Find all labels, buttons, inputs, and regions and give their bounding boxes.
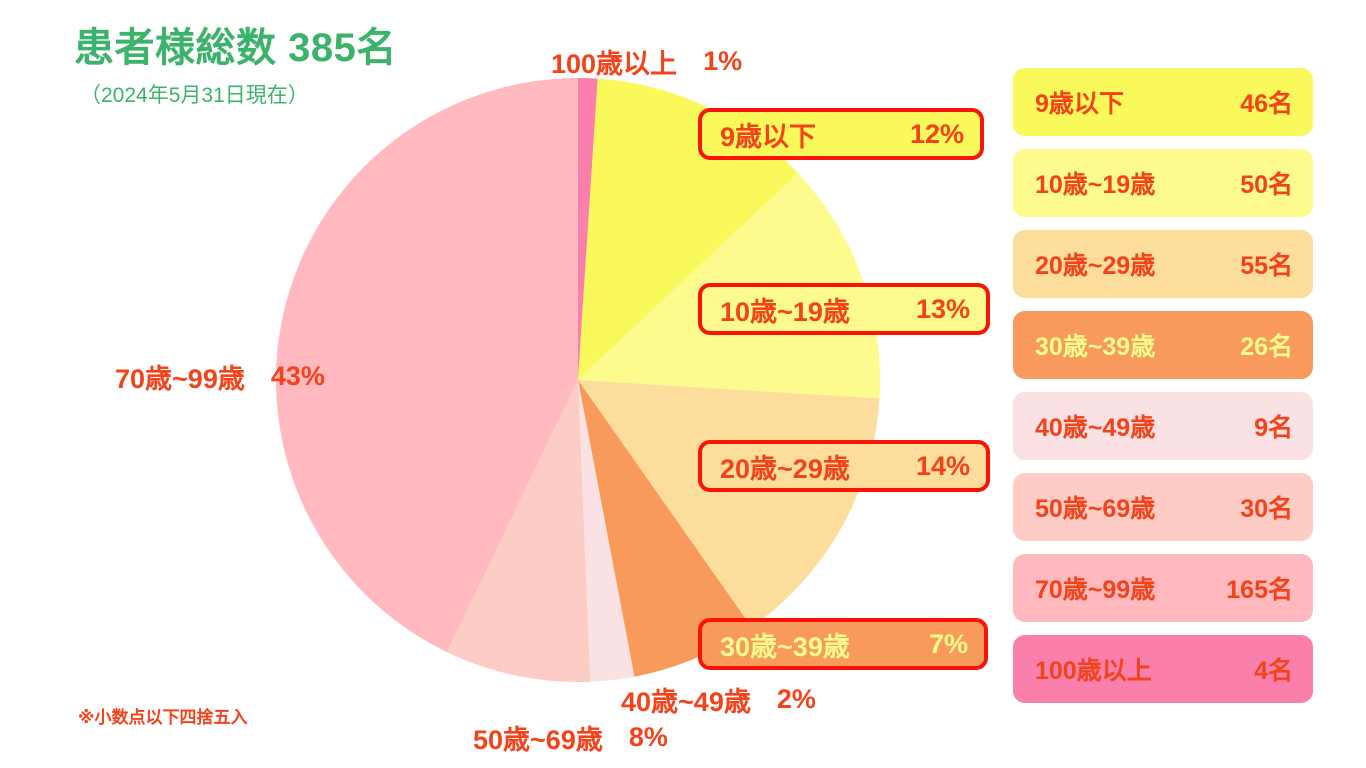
legend-item-label: 9歳以下 [1035, 84, 1124, 120]
legend-item-label: 100歳以上 [1035, 651, 1152, 687]
legend-item: 10歳~19歳50名 [1013, 149, 1313, 217]
legend-item-value: 165名 [1226, 570, 1293, 606]
pie-callout-30-39-value: 7% [929, 629, 968, 660]
pie-callout-30-39-label: 30歳~39歳 [720, 625, 850, 664]
legend-item-value: 46名 [1240, 84, 1293, 120]
pie-callout-10-19: 10歳~19歳 13% [698, 283, 990, 335]
legend-item: 9歳以下46名 [1013, 68, 1313, 136]
pie-chart [275, 77, 881, 683]
legend-item-value: 55名 [1240, 246, 1293, 282]
legend-item-value: 9名 [1254, 408, 1293, 444]
pie-callout-under-9-value: 12% [910, 119, 964, 150]
pie-label-100-and-over-value: 1% [703, 46, 742, 77]
pie-callout-10-19-label: 10歳~19歳 [720, 290, 850, 329]
legend-item: 30歳~39歳26名 [1013, 311, 1313, 379]
legend: 9歳以下46名10歳~19歳50名20歳~29歳55名30歳~39歳26名40歳… [1013, 68, 1313, 716]
pie-callout-20-29-value: 14% [916, 451, 970, 482]
footnote: ※小数点以下四捨五入 [78, 703, 248, 728]
pie-callout-under-9: 9歳以下 12% [698, 108, 984, 160]
pie-callout-under-9-label: 9歳以下 [720, 115, 816, 154]
legend-item-label: 10歳~19歳 [1035, 165, 1155, 201]
legend-item-value: 30名 [1240, 489, 1293, 525]
legend-item: 70歳~99歳165名 [1013, 554, 1313, 622]
page-title: 患者様総数 385名 [74, 26, 494, 70]
pie-label-70-99-text: 70歳~99歳 [115, 357, 245, 396]
pie-label-40-49-value: 2% [777, 684, 816, 715]
pie-label-50-69: 50歳~69歳 8% [473, 718, 668, 757]
pie-label-70-99: 70歳~99歳 43% [115, 357, 325, 396]
legend-item-label: 40歳~49歳 [1035, 408, 1155, 444]
legend-item-value: 4名 [1254, 651, 1293, 687]
pie-callout-20-29-label: 20歳~29歳 [720, 447, 850, 486]
legend-item-value: 50名 [1240, 165, 1293, 201]
legend-item-label: 30歳~39歳 [1035, 327, 1155, 363]
pie-label-50-69-text: 50歳~69歳 [473, 718, 603, 757]
legend-item-label: 50歳~69歳 [1035, 489, 1155, 525]
pie-label-70-99-value: 43% [271, 361, 325, 392]
legend-item: 20歳~29歳55名 [1013, 230, 1313, 298]
legend-item-value: 26名 [1240, 327, 1293, 363]
pie-label-100-and-over: 100歳以上 1% [551, 42, 742, 81]
pie-label-40-49-text: 40歳~49歳 [621, 680, 751, 719]
pie-callout-20-29: 20歳~29歳 14% [698, 440, 990, 492]
pie-callout-10-19-value: 13% [916, 294, 970, 325]
pie-chart-svg [275, 77, 881, 683]
pie-label-50-69-value: 8% [629, 722, 668, 753]
legend-item: 50歳~69歳30名 [1013, 473, 1313, 541]
pie-label-40-49: 40歳~49歳 2% [621, 680, 816, 719]
legend-item: 100歳以上4名 [1013, 635, 1313, 703]
legend-item-label: 70歳~99歳 [1035, 570, 1155, 606]
pie-label-100-and-over-text: 100歳以上 [551, 42, 677, 81]
pie-chart-page: 患者様総数 385名 （2024年5月31日現在） 100歳以上 1% 70歳~… [0, 0, 1366, 768]
legend-item: 40歳~49歳9名 [1013, 392, 1313, 460]
pie-callout-30-39: 30歳~39歳 7% [698, 618, 988, 670]
legend-item-label: 20歳~29歳 [1035, 246, 1155, 282]
